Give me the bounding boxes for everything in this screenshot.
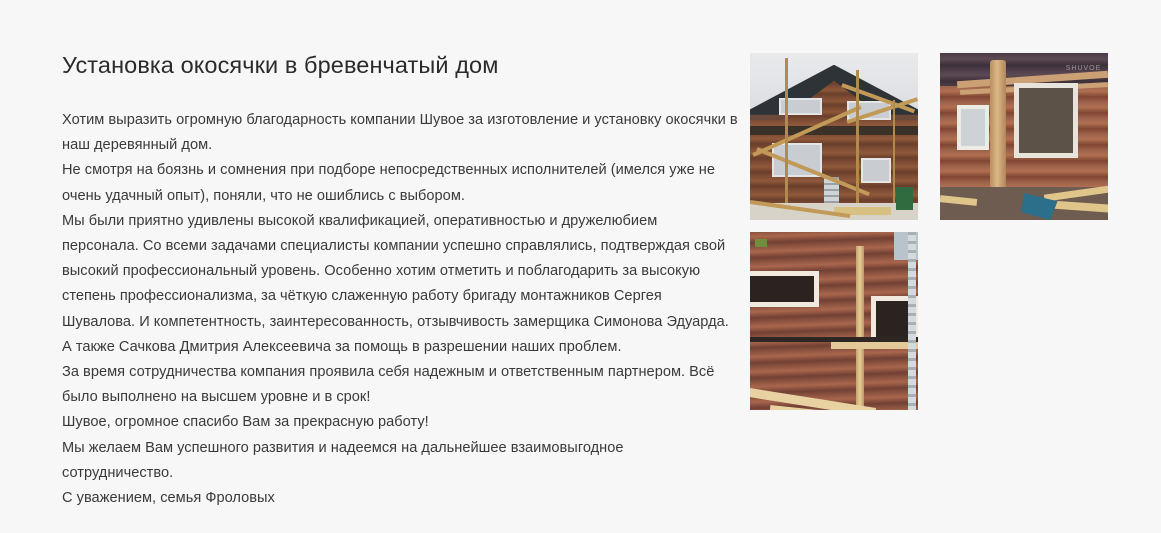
watermark-icon	[755, 239, 767, 247]
photo-artwork	[750, 53, 918, 220]
photo-gallery: SHUVOE	[750, 53, 1108, 410]
paragraph: Хотим выразить огромную благодарность ко…	[62, 108, 738, 158]
paragraph: За время сотрудничества компания проявил…	[62, 360, 738, 410]
scaffold-pole	[908, 232, 916, 410]
window-opening	[750, 271, 819, 307]
page-title: Установка окосячки в бревенчатый дом	[62, 50, 738, 80]
paragraph: С уважением, семья Фроловых	[62, 486, 738, 511]
timber-shelf	[831, 342, 918, 349]
casing-frame	[856, 246, 864, 410]
log-house-scaffolding-photo[interactable]	[750, 53, 918, 220]
paragraph: Мы были приятно удивлены высокой квалифи…	[62, 209, 738, 360]
paragraph: Не смотря на боязнь и сомнения при подбо…	[62, 158, 738, 208]
green-object	[896, 187, 913, 210]
watermark-text: SHUVOE	[1066, 65, 1102, 72]
paragraph: Мы желаем Вам успешного развития и надее…	[62, 436, 738, 486]
window-opening	[1014, 83, 1078, 158]
window-opening	[861, 158, 891, 183]
testimonial-page: Установка окосячки в бревенчатый дом Хот…	[0, 0, 1161, 533]
window-opening	[957, 105, 989, 150]
photo-artwork: SHUVOE	[940, 53, 1108, 220]
photo-artwork	[750, 232, 918, 410]
log-wall-two-windows-photo[interactable]	[750, 232, 918, 410]
paragraph: Шувое, огромное спасибо Вам за прекрасну…	[62, 410, 738, 435]
scaffold-pole	[856, 70, 859, 220]
article-content: Установка окосячки в бревенчатый дом Хот…	[62, 50, 738, 511]
log-wall-window-opening-photo[interactable]: SHUVOE	[940, 53, 1108, 220]
scaffold-pole	[785, 58, 788, 220]
scaffold-pole	[893, 100, 896, 220]
testimonial-body: Хотим выразить огромную благодарность ко…	[62, 108, 738, 511]
